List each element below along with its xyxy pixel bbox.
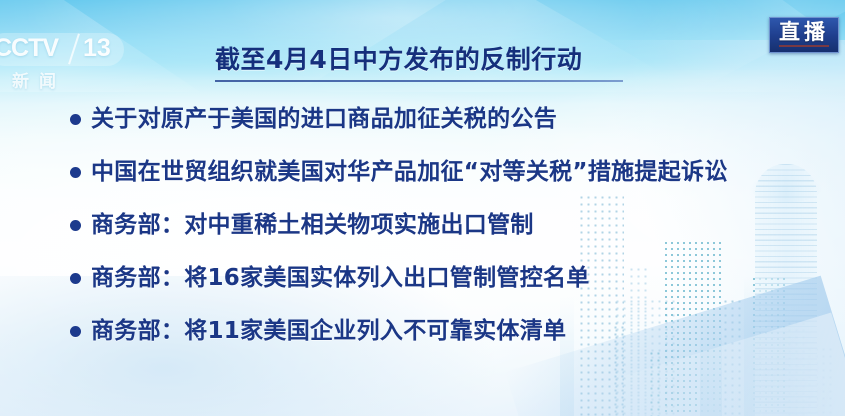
bullet-dot-icon	[70, 220, 81, 231]
logo-cctv-text: CCTV	[0, 34, 58, 63]
list-item-label: 关于对原产于美国的进口商品加征关税的公告	[91, 104, 557, 134]
bullet-dot-icon	[70, 273, 81, 284]
list-item-label: 商务部：将11家美国企业列入不可靠实体清单	[91, 316, 566, 346]
list-item: 中国在世贸组织就美国对华产品加征“对等关税”措施提起诉讼	[70, 157, 825, 210]
live-badge-label: 直播	[779, 21, 829, 43]
list-item-label: 商务部：将16家美国实体列入出口管制管控名单	[91, 263, 590, 293]
logo-subtitle-news: 新闻	[12, 67, 66, 92]
list-item: 商务部：将16家美国实体列入出口管制管控名单	[70, 263, 825, 316]
logo-channel-number: 13	[83, 34, 111, 63]
list-item-label: 中国在世贸组织就美国对华产品加征“对等关税”措施提起诉讼	[91, 157, 728, 187]
live-badge: 直播	[769, 17, 839, 53]
cctv-13-logo: CCTV 13 新闻	[0, 33, 124, 93]
broadcast-lower-third-graphic: CCTV 13 新闻 直播 截至4月4日中方发布的反制行动 关于对原产于美国的进…	[0, 0, 845, 416]
list-item: 商务部：对中重稀土相关物项实施出口管制	[70, 210, 825, 263]
list-item: 商务部：将11家美国企业列入不可靠实体清单	[70, 316, 825, 369]
bullet-dot-icon	[70, 326, 81, 337]
headline-block: 截至4月4日中方发布的反制行动	[215, 44, 635, 82]
list-item: 关于对原产于美国的进口商品加征关税的公告	[70, 104, 825, 157]
page-title: 截至4月4日中方发布的反制行动	[215, 44, 635, 75]
title-underline-rule	[215, 80, 623, 82]
bullet-dot-icon	[70, 167, 81, 178]
bullet-dot-icon	[70, 114, 81, 125]
live-badge-underline	[779, 45, 829, 47]
bullet-list: 关于对原产于美国的进口商品加征关税的公告 中国在世贸组织就美国对华产品加征“对等…	[70, 104, 825, 369]
list-item-label: 商务部：对中重稀土相关物项实施出口管制	[91, 210, 534, 240]
